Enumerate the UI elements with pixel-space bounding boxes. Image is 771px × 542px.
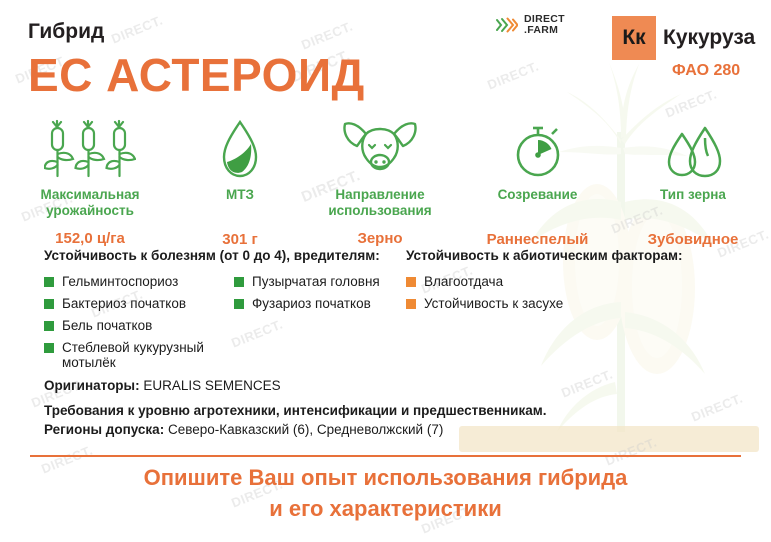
list-item-label: Бактериоз початков: [62, 296, 186, 311]
list-item: Влагоотдача: [406, 274, 756, 289]
stat-value: 152,0 ц/га: [0, 230, 180, 247]
regions-value: Северо-Кавказский (6), Средневолжский (7…: [164, 422, 443, 437]
list-item-label: Устойчивость к засухе: [424, 296, 563, 311]
cow-head-icon: [300, 116, 460, 180]
abiotic-list: Влагоотдача Устойчивость к засухе: [406, 274, 756, 311]
logo-line-2: .FARM: [524, 25, 565, 36]
list-item-label: Фузариоз початков: [252, 296, 371, 311]
stat-value: 301 г: [180, 231, 300, 248]
stat-value: Зерно: [300, 230, 460, 247]
list-item: Гельминтоспориоз: [44, 274, 234, 289]
bullet-square-icon: [44, 321, 54, 331]
stat-label-line1: Направление: [335, 187, 424, 202]
regions-label: Регионы допуска:: [44, 422, 164, 437]
stat-label: Созревание: [460, 187, 615, 203]
bullet-square-icon: [406, 299, 416, 309]
stat-label-line2: урожайность: [46, 203, 134, 218]
requirements-row: Требования к уровню агротехники, интенси…: [44, 401, 546, 420]
list-item-label: Гельминтоспориоз: [62, 274, 178, 289]
stat-value: Раннеспелый: [460, 231, 615, 248]
stat-label: Максимальная урожайность: [0, 187, 180, 219]
stat-label-line1: Максимальная: [40, 187, 139, 202]
list-item: Стеблевой кукурузный мотылёк: [44, 340, 234, 370]
stat-value: Зубовидное: [615, 231, 771, 248]
crop-abbreviation: Кк: [612, 16, 656, 60]
kicker-label: Гибрид: [28, 20, 104, 44]
bullet-square-icon: [44, 299, 54, 309]
call-to-action: Опишите Ваш опыт использования гибрида и…: [0, 462, 771, 524]
stat-use-direction: Направление использования Зерно: [300, 116, 460, 248]
list-item: Устойчивость к засухе: [406, 296, 756, 311]
seed-drop-icon: [180, 116, 300, 180]
disease-list-column-1: Гельминтоспориоз Бактериоз початков Бель…: [44, 274, 234, 377]
crop-badge: Кк Кукуруза: [612, 16, 755, 60]
stat-tkw: МТЗ 301 г: [180, 116, 300, 248]
hybrid-title: ЕС АСТЕРОИД: [28, 52, 365, 98]
disease-resistance-heading: Устойчивость к болезням (от 0 до 4), вре…: [44, 248, 406, 263]
bullet-square-icon: [44, 343, 54, 353]
list-item-label: Влагоотдача: [424, 274, 503, 289]
fao-value: ФАО 280: [672, 62, 740, 80]
abiotic-resistance-heading: Устойчивость к абиотическим факторам:: [406, 248, 756, 263]
corn-stalks-icon: [0, 116, 180, 180]
list-item: Фузариоз початков: [234, 296, 380, 311]
stat-label: Направление использования: [300, 187, 460, 219]
grain-type-icon: [615, 116, 771, 180]
stat-label-line1: Созревание: [498, 187, 578, 202]
list-item: Бактериоз початков: [44, 296, 234, 311]
cta-line-1: Опишите Ваш опыт использования гибрида: [0, 462, 771, 493]
bullet-square-icon: [234, 277, 244, 287]
list-item: Пузырчатая головня: [234, 274, 380, 289]
list-item-label: Бель початков: [62, 318, 152, 333]
disease-list-column-2: Пузырчатая головня Фузариоз початков: [234, 274, 380, 377]
stat-grain-type: Тип зерна Зубовидное: [615, 116, 771, 248]
bullet-square-icon: [44, 277, 54, 287]
stat-label: Тип зерна: [615, 187, 771, 203]
hybrid-info-poster: DIRECT. DIRECT. DIRECT. DIRECT. DIRECT. …: [0, 0, 771, 542]
originator-label: Оригинаторы:: [44, 378, 140, 393]
list-item-label: Стеблевой кукурузный мотылёк: [62, 340, 234, 370]
regions-row: Регионы допуска: Северо-Кавказский (6), …: [44, 420, 546, 439]
originator-row: Оригинаторы: EURALIS SEMENCES: [44, 376, 546, 395]
stopwatch-icon: [460, 116, 615, 180]
divider: [30, 455, 741, 457]
stat-label: МТЗ: [180, 187, 300, 203]
stat-label-line1: Тип зерна: [660, 187, 726, 202]
list-item: Бель початков: [44, 318, 234, 333]
meta-block: Оригинаторы: EURALIS SEMENCES Требования…: [44, 376, 546, 442]
list-item-label: Пузырчатая головня: [252, 274, 380, 289]
stat-maturity: Созревание Раннеспелый: [460, 116, 615, 248]
stats-row: Максимальная урожайность 152,0 ц/га МТЗ …: [0, 116, 771, 248]
stat-max-yield: Максимальная урожайность 152,0 ц/га: [0, 116, 180, 248]
direct-farm-chevrons-icon: [496, 16, 518, 34]
crop-name: Кукуруза: [663, 26, 755, 50]
disease-resistance-block: Устойчивость к болезням (от 0 до 4), вре…: [44, 248, 406, 377]
stat-label-line1: МТЗ: [226, 187, 254, 202]
cta-line-2: и его характеристики: [0, 493, 771, 524]
abiotic-resistance-block: Устойчивость к абиотическим факторам: Вл…: [406, 248, 756, 318]
direct-farm-logo: DIRECT .FARM: [496, 14, 565, 36]
originator-value: EURALIS SEMENCES: [140, 378, 281, 393]
bullet-square-icon: [234, 299, 244, 309]
bullet-square-icon: [406, 277, 416, 287]
stat-label-line2: использования: [328, 203, 431, 218]
